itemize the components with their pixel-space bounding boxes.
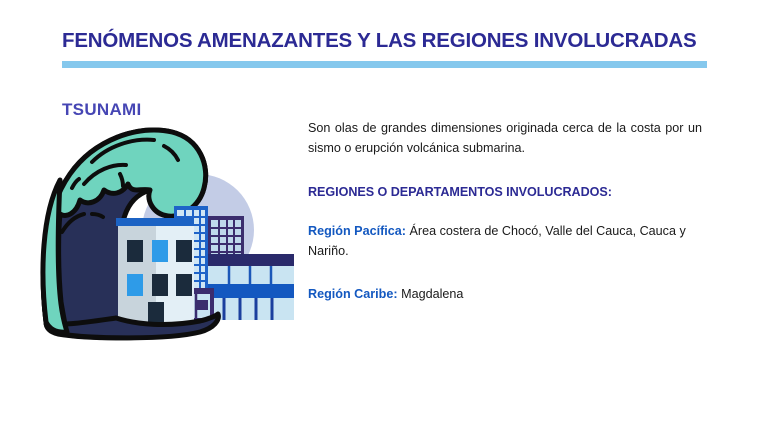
regions-heading: REGIONES O DEPARTAMENTOS INVOLUCRADOS:	[308, 159, 702, 199]
window	[152, 240, 168, 262]
tsunami-illustration	[28, 122, 294, 342]
title-underline-rule	[62, 61, 707, 68]
window	[152, 274, 168, 296]
region-entry-pacifica: Región Pacífica: Área costera de Chocó, …	[308, 199, 702, 262]
region-name-pacifica: Región Pacífica:	[308, 224, 406, 238]
intro-paragraph: Son olas de grandes dimensiones originad…	[308, 118, 702, 159]
building-low-wide	[208, 254, 294, 320]
phenomenon-label: TSUNAMI	[62, 100, 142, 120]
window	[127, 274, 143, 296]
window	[176, 274, 192, 296]
building-main	[116, 218, 194, 324]
region-places-caribe: Magdalena	[398, 287, 464, 301]
slide: FENÓMENOS AMENAZANTES Y LAS REGIONES INV…	[0, 0, 768, 432]
window	[176, 240, 192, 262]
door	[148, 302, 164, 324]
page-title: FENÓMENOS AMENAZANTES Y LAS REGIONES INV…	[62, 30, 718, 52]
slide-header: FENÓMENOS AMENAZANTES Y LAS REGIONES INV…	[62, 30, 718, 52]
content-column: Son olas de grandes dimensiones originad…	[308, 118, 702, 304]
region-entry-caribe: Región Caribe: Magdalena	[308, 262, 702, 304]
region-name-caribe: Región Caribe:	[308, 287, 398, 301]
window	[127, 240, 143, 262]
